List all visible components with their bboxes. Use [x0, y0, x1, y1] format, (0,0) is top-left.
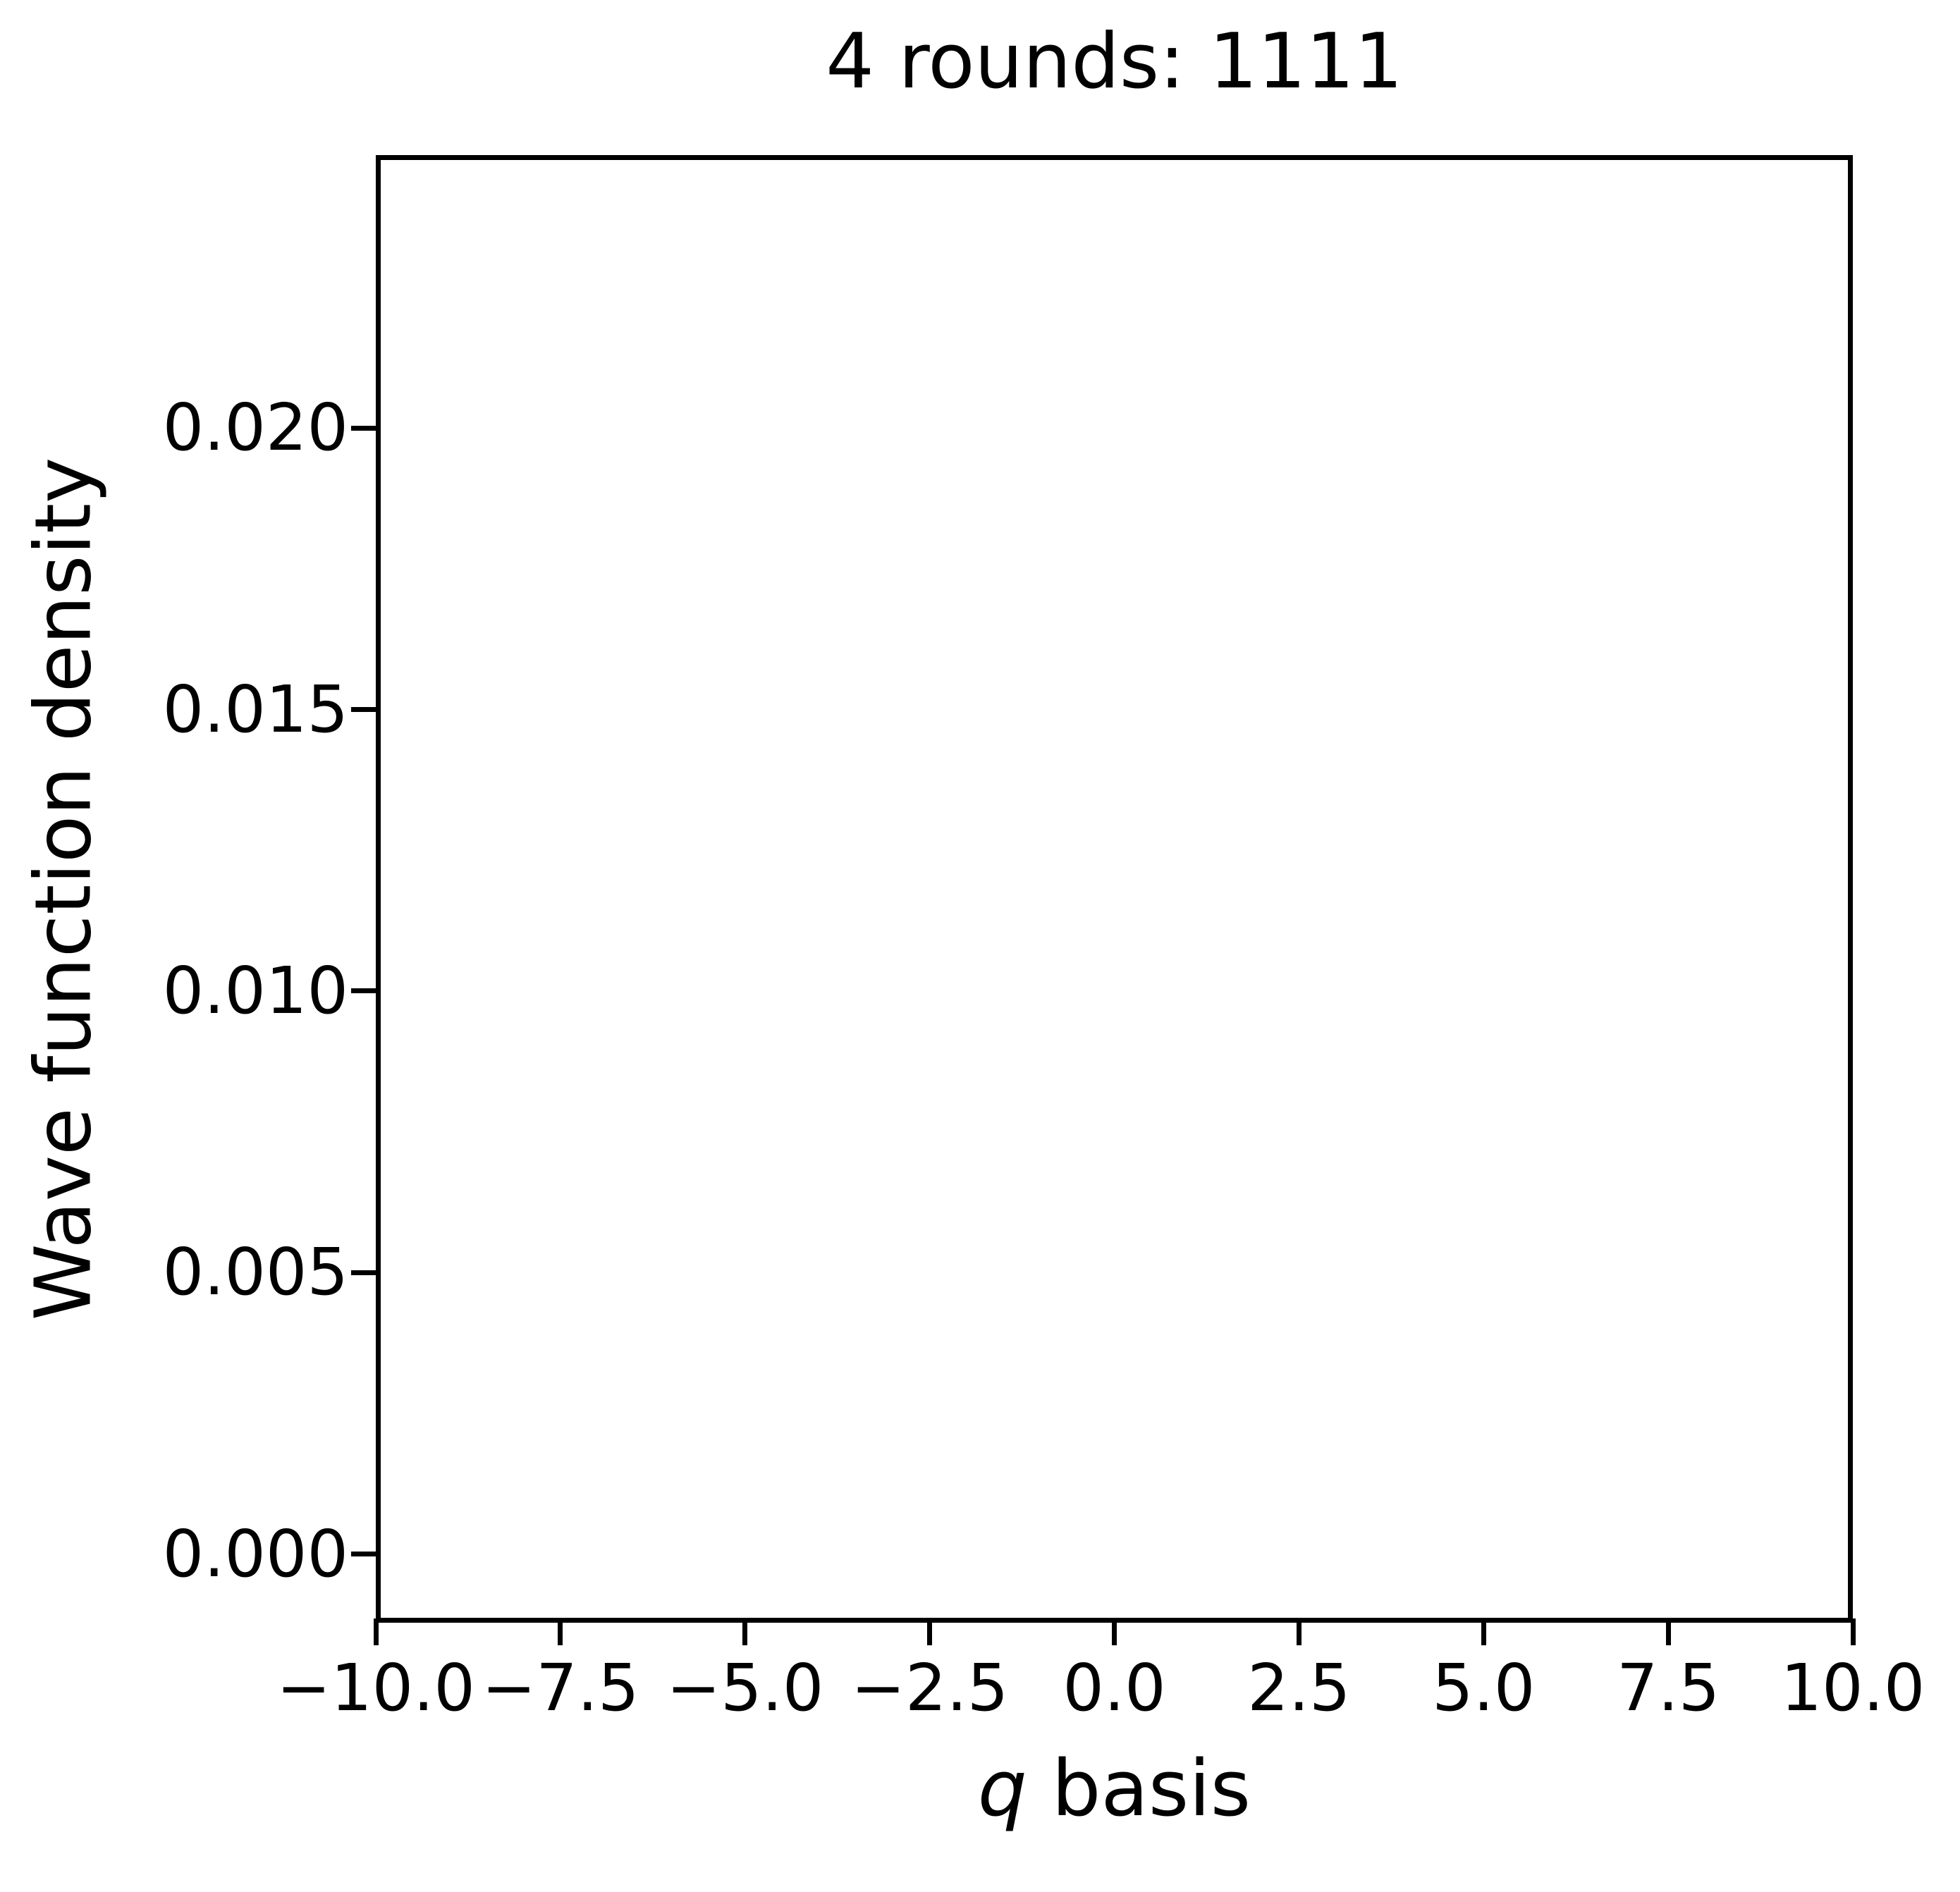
y-tick-mark: [351, 426, 378, 431]
x-tick-label: 2.5: [1247, 1653, 1350, 1724]
x-tick-mark: [558, 1618, 563, 1645]
x-tick-mark: [742, 1618, 747, 1645]
x-tick-mark: [374, 1618, 379, 1645]
y-tick-label: 0.020: [163, 395, 348, 460]
y-tick-label: 0.000: [163, 1522, 348, 1587]
x-tick-label: −2.5: [851, 1653, 1008, 1724]
x-tick-label: −7.5: [482, 1653, 639, 1724]
y-axis-label: Wave function density: [20, 457, 108, 1321]
y-tick-label: 0.005: [163, 1240, 348, 1305]
x-axis-label: q basis: [376, 1745, 1853, 1833]
x-axis-label-text: basis: [1027, 1743, 1251, 1833]
y-axis-label-container: Wave function density: [0, 155, 127, 1623]
y-tick-mark: [351, 707, 378, 712]
x-tick-label: −10.0: [276, 1653, 475, 1724]
x-tick-mark: [1297, 1618, 1301, 1645]
y-tick-label: 0.015: [163, 677, 348, 742]
x-tick-mark: [927, 1618, 932, 1645]
x-tick-label: 10.0: [1781, 1653, 1925, 1724]
x-tick-label: 7.5: [1617, 1653, 1720, 1724]
x-axis-label-symbol: q: [978, 1743, 1027, 1833]
y-tick-mark: [351, 988, 378, 993]
figure-canvas: 4 rounds: 1111 0.0000.0050.0100.0150.020…: [0, 0, 1960, 1892]
x-tick-label: 0.0: [1062, 1653, 1165, 1724]
x-tick-label: 5.0: [1432, 1653, 1535, 1724]
x-tick-mark: [1666, 1618, 1671, 1645]
y-tick-mark: [351, 1270, 378, 1275]
axes-frame: [376, 155, 1853, 1623]
y-tick-mark: [351, 1552, 378, 1556]
chart-title: 4 rounds: 1111: [376, 20, 1853, 104]
x-tick-label: −5.0: [666, 1653, 823, 1724]
x-tick-mark: [1481, 1618, 1486, 1645]
x-tick-mark: [1851, 1618, 1856, 1645]
y-tick-label: 0.010: [163, 959, 348, 1024]
x-tick-mark: [1112, 1618, 1117, 1645]
